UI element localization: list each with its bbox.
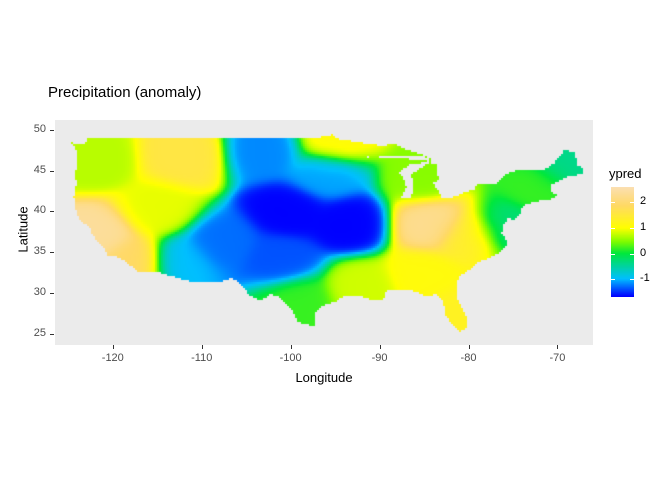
legend: ypred 210-1	[609, 166, 669, 305]
legend-tick-mark	[630, 202, 634, 203]
legend-tick-label: -1	[640, 272, 650, 284]
y-tick-label: 45	[14, 164, 46, 176]
x-tick-label: -110	[172, 352, 232, 364]
y-tick-mark	[50, 171, 54, 172]
x-axis-title: Longitude	[55, 370, 593, 385]
legend-tick-mark	[630, 279, 634, 280]
y-tick-mark	[50, 293, 54, 294]
legend-tick-mark	[630, 254, 634, 255]
x-tick-mark	[469, 345, 470, 349]
y-tick-label: 30	[14, 286, 46, 298]
legend-tick-label: 0	[640, 247, 646, 259]
legend-title: ypred	[609, 166, 669, 181]
legend-tick-label: 1	[640, 221, 646, 233]
x-tick-mark	[113, 345, 114, 349]
y-tick-label: 25	[14, 327, 46, 339]
legend-tick-mark	[611, 254, 615, 255]
legend-tick-mark	[611, 202, 615, 203]
legend-tick-mark	[611, 279, 615, 280]
x-tick-label: -80	[439, 352, 499, 364]
y-tick-mark	[50, 334, 54, 335]
x-tick-mark	[557, 345, 558, 349]
precipitation-anomaly-heatmap	[55, 120, 593, 345]
map-panel	[55, 120, 593, 345]
x-tick-label: -100	[261, 352, 321, 364]
y-tick-mark	[50, 252, 54, 253]
legend-tick-mark	[611, 228, 615, 229]
x-tick-mark	[291, 345, 292, 349]
x-tick-mark	[202, 345, 203, 349]
x-tick-label: -120	[83, 352, 143, 364]
ggplot-figure: Precipitation (anomaly) 253035404550 -12…	[0, 0, 672, 480]
y-axis-title: Latitude	[16, 190, 31, 270]
legend-body: 210-1	[609, 187, 669, 305]
x-tick-label: -70	[527, 352, 587, 364]
legend-tick-mark	[630, 228, 634, 229]
y-tick-mark	[50, 130, 54, 131]
y-tick-label: 50	[14, 123, 46, 135]
legend-tick-label: 2	[640, 195, 646, 207]
legend-colorbar	[611, 187, 634, 297]
page-title: Precipitation (anomaly)	[48, 84, 201, 101]
x-tick-label: -90	[350, 352, 410, 364]
x-tick-mark	[380, 345, 381, 349]
y-tick-mark	[50, 211, 54, 212]
